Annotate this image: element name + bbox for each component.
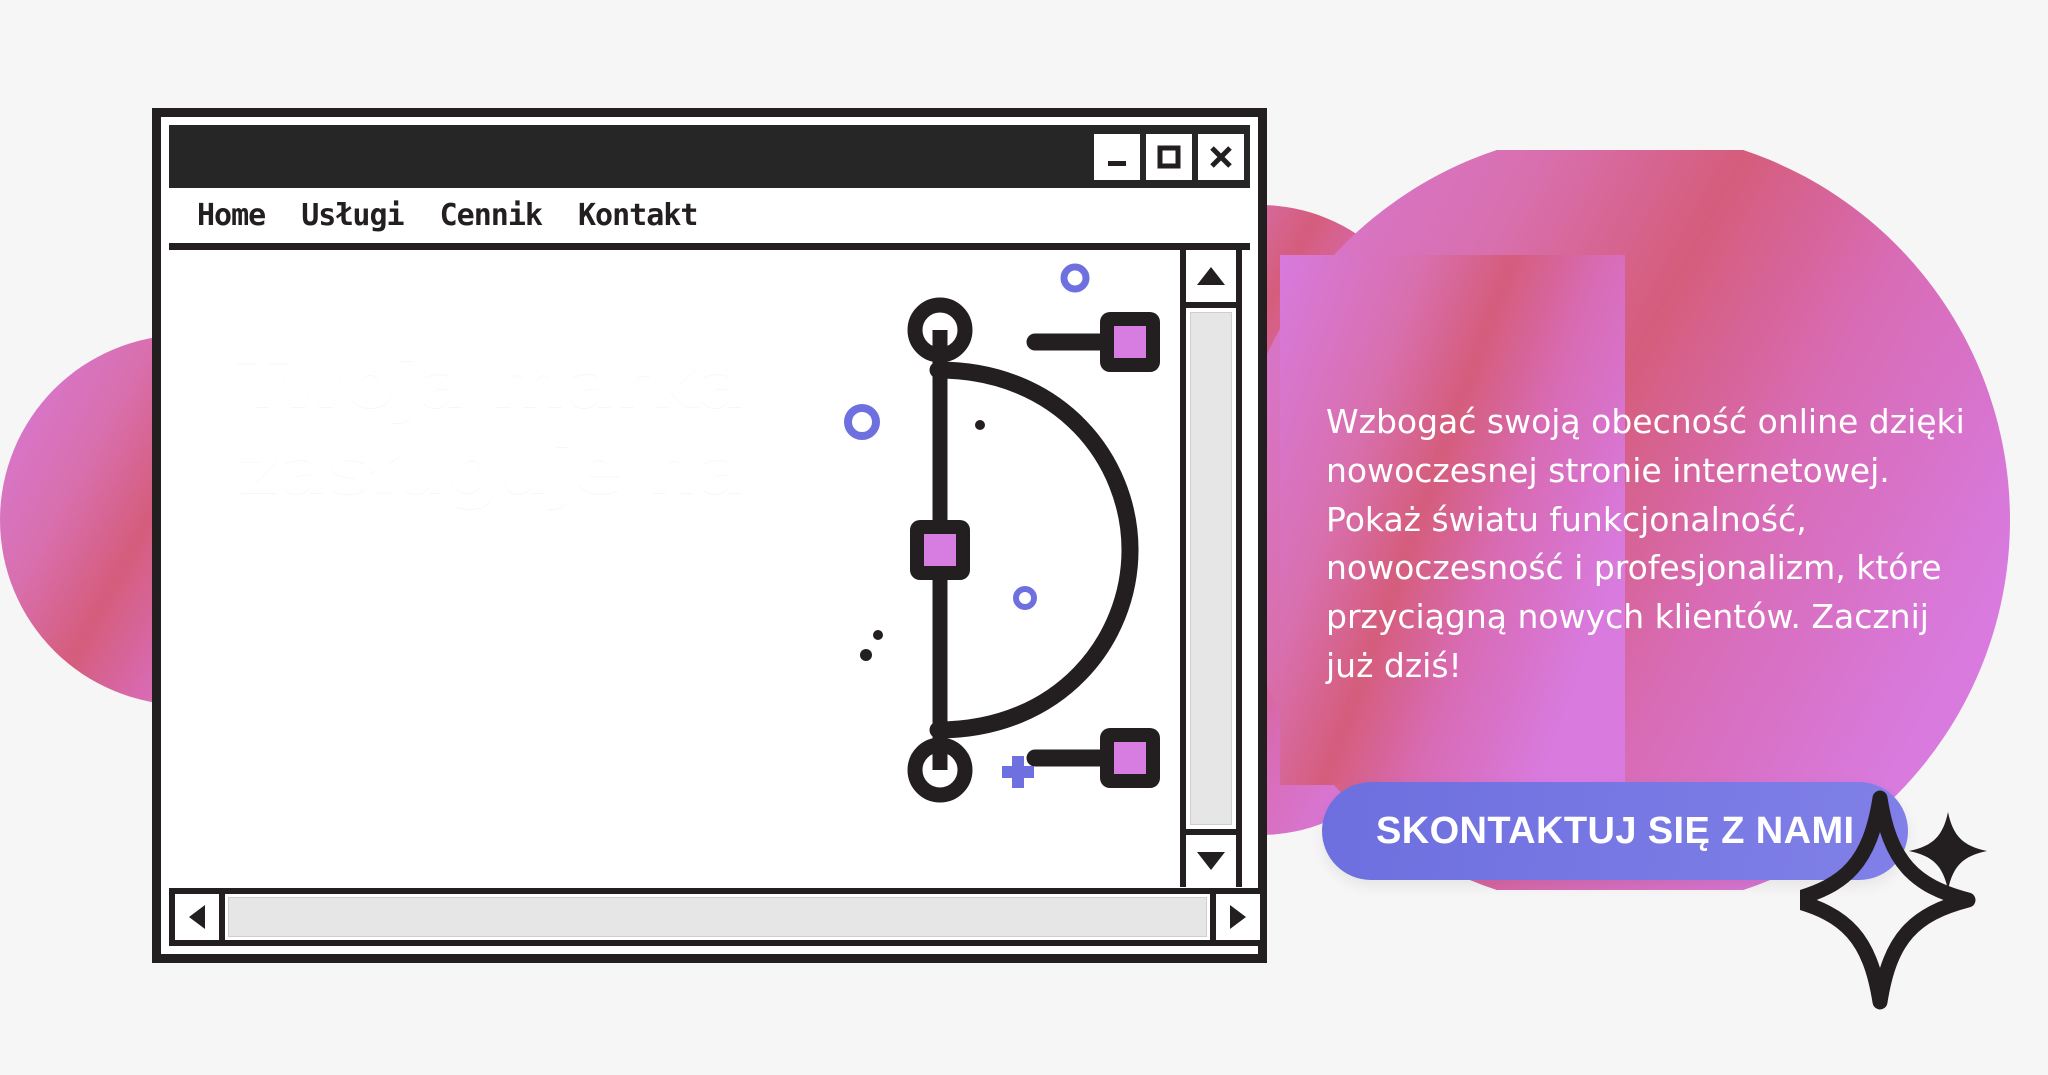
vertical-scroll-track[interactable] [1186,308,1236,829]
hero-headline: Twoja marka zasługuje na więcej! [237,340,746,597]
contact-us-button[interactable]: SKONTAKTUJ SIĘ Z NAMI [1322,782,1908,880]
accent-plus-icon [1002,756,1034,788]
accent-dot-2 [873,630,883,640]
close-icon [1208,144,1234,170]
window-title-bar [169,125,1250,188]
horizontal-scrollbar[interactable] [169,888,1266,946]
cta-container: SKONTAKTUJ SIĘ Z NAMI [1322,782,1908,880]
headline-line-2: zasługuje na [237,426,746,512]
headline-line-1: Twoja marka [237,340,746,426]
vertical-scrollbar[interactable] [1180,250,1242,887]
control-handle-middle [910,520,970,580]
bezier-curve-upper [938,370,1130,550]
nav-item-cennik[interactable]: Cennik [440,198,542,233]
horizontal-scroll-track[interactable] [225,894,1210,940]
headline-script: więcej! [237,518,746,598]
accent-dot-3 [860,649,872,661]
minimize-button[interactable] [1094,134,1140,180]
body-copy: Wzbogać swoją obecność online dzięki now… [1326,398,1986,691]
scroll-left-icon [187,903,207,931]
scroll-right-button[interactable] [1210,894,1260,940]
nav-item-home[interactable]: Home [197,198,265,233]
maximize-button[interactable] [1146,134,1192,180]
minimize-icon [1104,144,1130,170]
bezier-curve-lower [938,550,1130,730]
scroll-up-button[interactable] [1186,250,1236,308]
accent-ring-small [1064,267,1086,289]
content-panel: Wzbogać swoją obecność online dzięki now… [1326,398,2026,691]
anchor-point-top [915,305,965,355]
navigation-bar: Home Usługi Cennik Kontakt [169,188,1250,250]
close-button[interactable] [1198,134,1244,180]
scroll-right-icon [1228,903,1248,931]
accent-ring-mid [1016,589,1034,607]
scroll-down-button[interactable] [1186,829,1236,887]
page-root: Home Usługi Cennik Kontakt Twoja marka z… [0,0,2048,1075]
accent-dot-1 [975,420,985,430]
accent-ring-large [848,408,876,436]
maximize-icon [1156,144,1182,170]
vertical-scroll-thumb[interactable] [1190,312,1232,825]
control-handle-top-right [1100,312,1160,372]
anchor-point-bottom [915,745,965,795]
control-handle-bottom-right [1100,728,1160,788]
nav-item-uslugi[interactable]: Usługi [301,198,403,233]
scroll-down-icon [1196,850,1226,872]
page-viewport: Twoja marka zasługuje na więcej! [169,250,1250,887]
browser-window: Home Usługi Cennik Kontakt Twoja marka z… [152,108,1267,963]
scroll-up-icon [1196,265,1226,287]
nav-item-kontakt[interactable]: Kontakt [578,198,697,233]
horizontal-scroll-thumb[interactable] [228,897,1207,937]
sparkle-small-icon [1909,812,1987,890]
scroll-left-button[interactable] [175,894,225,940]
